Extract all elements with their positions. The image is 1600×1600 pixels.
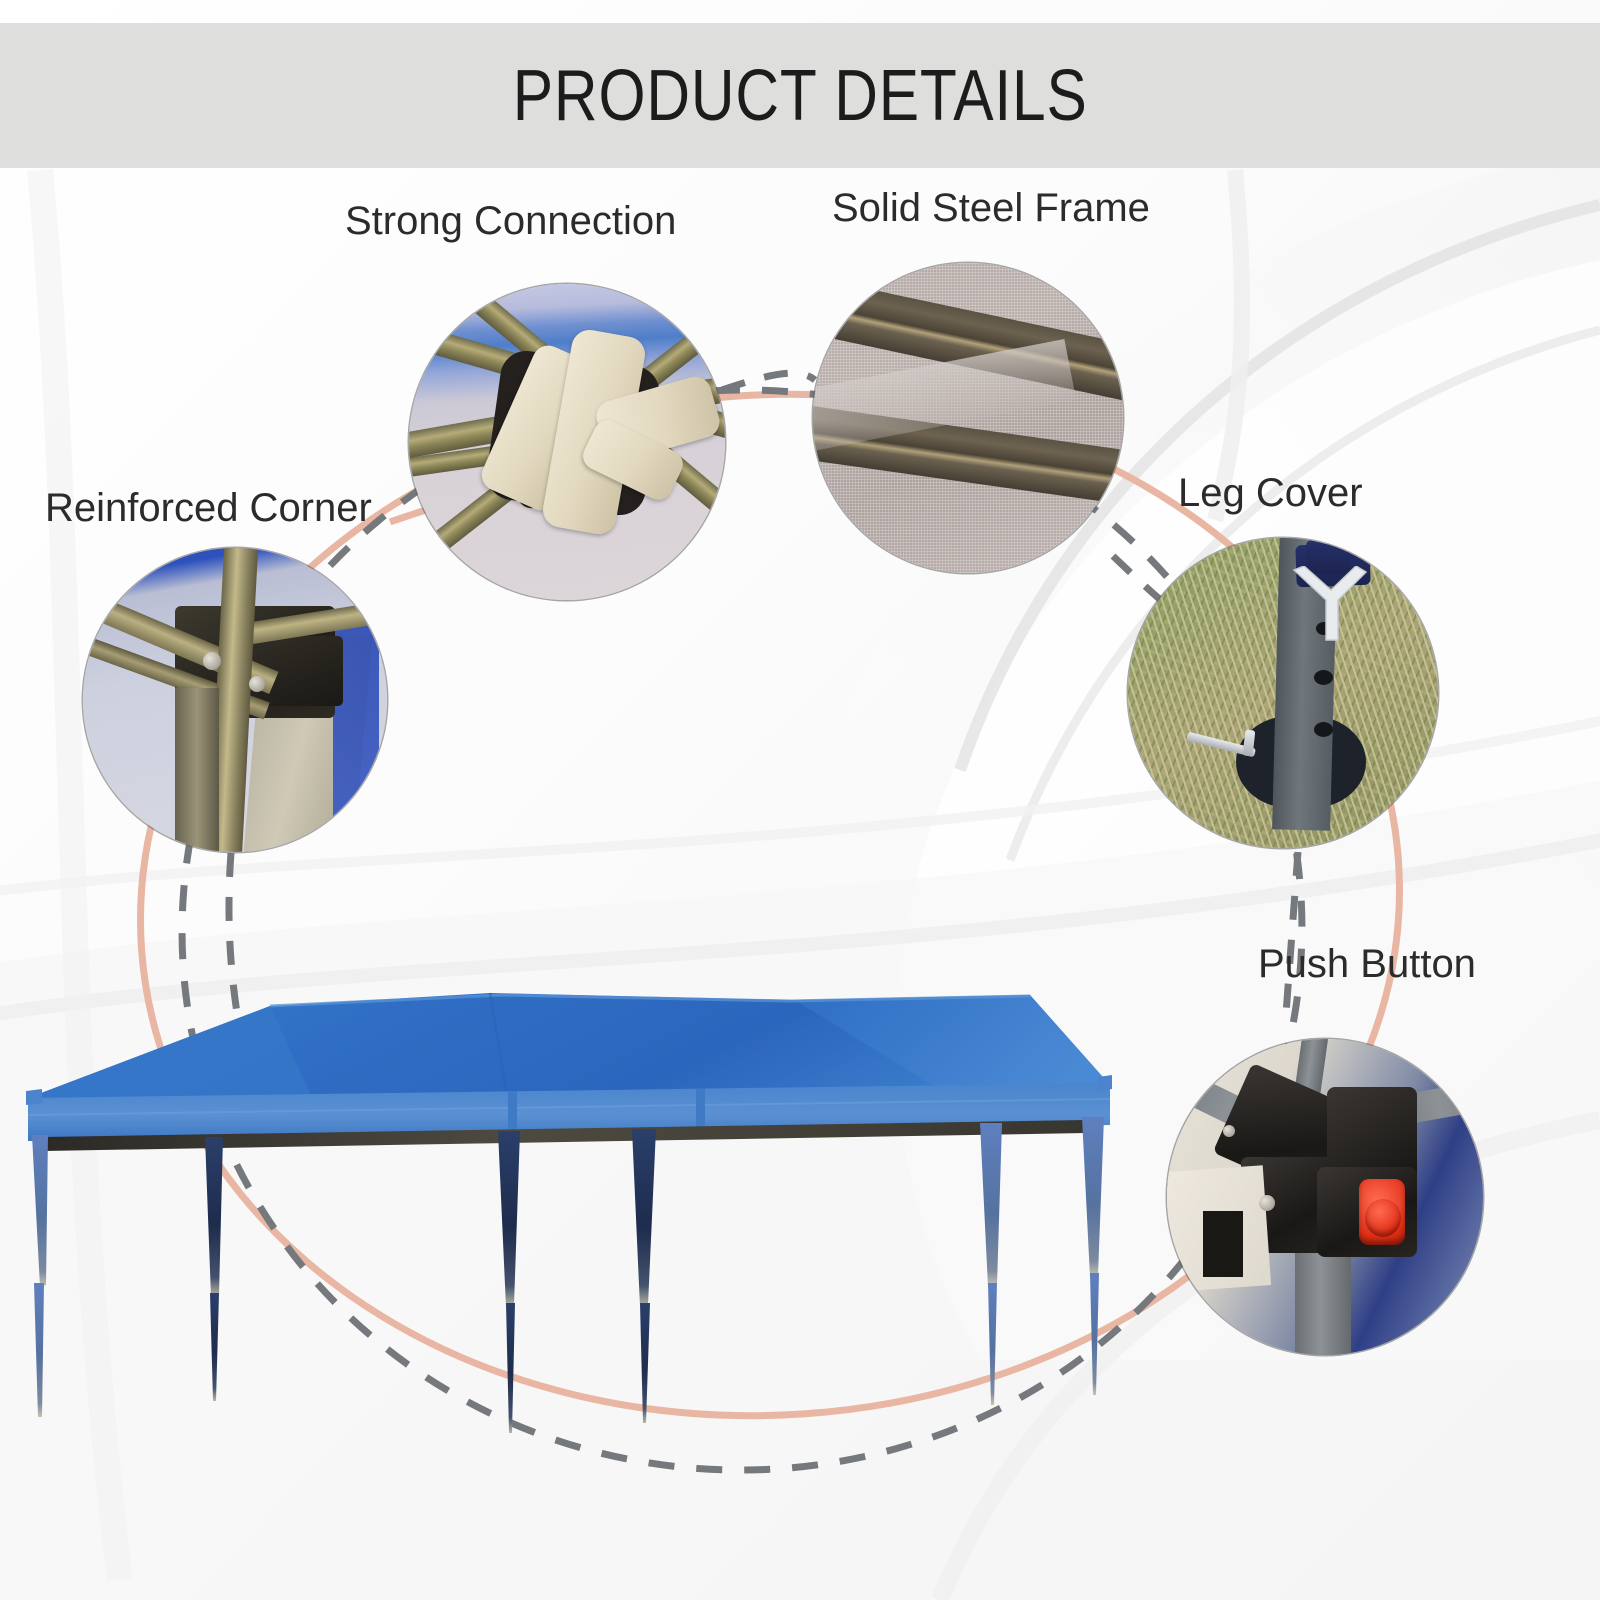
detail-circle-push-button[interactable]	[1167, 1039, 1483, 1355]
label-strong-connection: Strong Connection	[345, 199, 676, 244]
page-header-banner: PRODUCT DETAILS	[0, 23, 1600, 168]
page-title: PRODUCT DETAILS	[513, 55, 1088, 137]
product-image-canopy[interactable]	[20, 965, 1130, 1485]
label-leg-cover: Leg Cover	[1178, 471, 1363, 516]
detail-circle-reinforced-corner[interactable]	[83, 548, 387, 852]
label-reinforced-corner: Reinforced Corner	[45, 486, 372, 531]
label-push-button: Push Button	[1258, 942, 1476, 987]
infographic-stage: PRODUCT DETAILS Strong Connection Solid …	[0, 0, 1600, 1600]
detail-circle-strong-connection[interactable]	[409, 284, 725, 600]
detail-circle-solid-steel-frame[interactable]	[813, 263, 1123, 573]
label-solid-steel-frame: Solid Steel Frame	[832, 186, 1150, 231]
detail-circle-leg-cover[interactable]	[1128, 538, 1438, 848]
